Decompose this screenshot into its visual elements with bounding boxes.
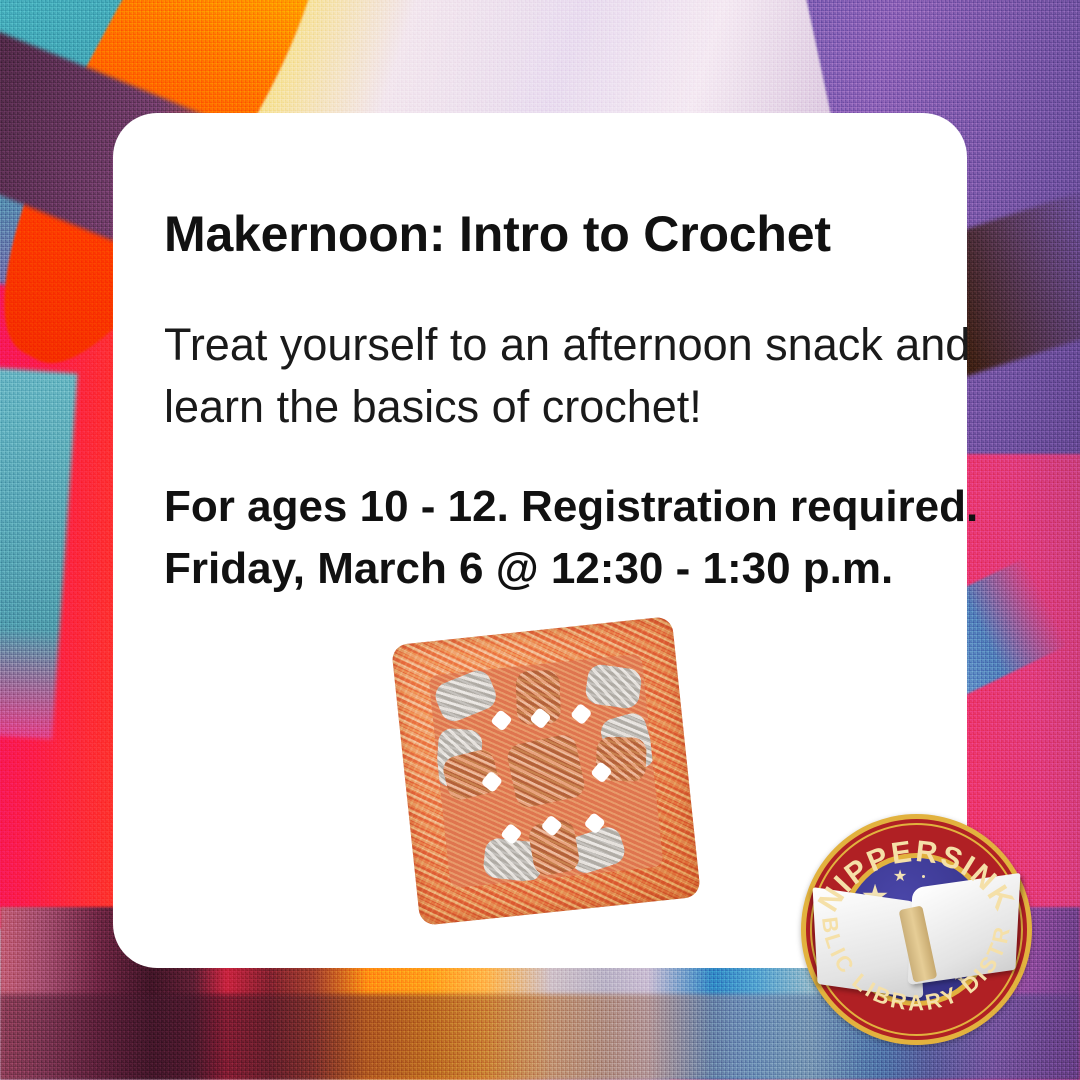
svg-text:PUBLIC LIBRARY DISTRICT: PUBLIC LIBRARY DISTRICT xyxy=(801,814,1015,1015)
event-audience-line: For ages 10 - 12. Registration required. xyxy=(164,476,954,538)
logo-arc-bottom: PUBLIC LIBRARY DISTRICT xyxy=(801,814,1032,1045)
library-logo: NIPPERSINK PUBLIC LIBRARY DISTRICT xyxy=(801,814,1032,1045)
page-title: Makernoon: Intro to Crochet xyxy=(164,208,944,261)
description-line-2: learn the basics of crochet! xyxy=(164,376,954,438)
poster-canvas: Makernoon: Intro to Crochet Treat yourse… xyxy=(0,0,1080,1080)
crochet-yarn-texture xyxy=(391,616,701,926)
event-datetime-line: Friday, March 6 @ 12:30 - 1:30 p.m. xyxy=(164,538,954,600)
crochet-square-image xyxy=(383,612,708,937)
logo-subtitle-text: PUBLIC LIBRARY DISTRICT xyxy=(801,814,1015,1015)
event-details-text: For ages 10 - 12. Registration required.… xyxy=(164,476,954,601)
crochet-square-rotated xyxy=(391,616,701,926)
description-line-1: Treat yourself to an afternoon snack and xyxy=(164,314,954,376)
description-text: Treat yourself to an afternoon snack and… xyxy=(164,314,954,438)
